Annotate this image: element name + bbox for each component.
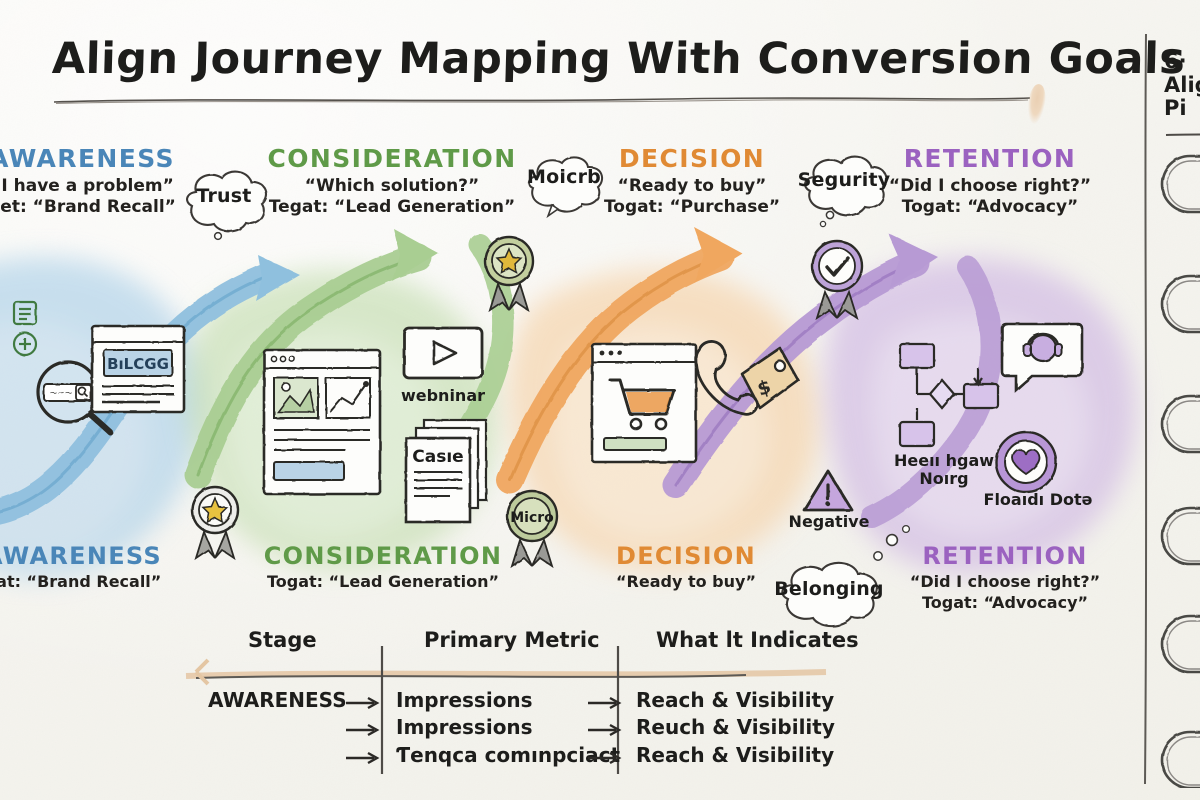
stage-footer-consideration: CONSIDERATION Togat: “Lead Generation” xyxy=(238,542,528,591)
warning-negative-icon xyxy=(800,466,856,518)
thought-cloud-trust-label: Trust xyxy=(172,166,276,226)
table-row: AWARENESS xyxy=(208,688,347,712)
title-underline xyxy=(52,95,1032,105)
row-arrow-2b xyxy=(588,723,624,737)
micro-rosette-label: Micro xyxy=(510,510,554,526)
stage-footer-decision-name: DECISION xyxy=(566,542,806,570)
panel-pill-1-label: D xyxy=(1158,272,1200,336)
thought-cloud-moicrb-label: Moicrb xyxy=(518,148,610,206)
table-cell-metric: Impressions xyxy=(396,715,533,739)
flow-diagram-caption-line1: Heeıı hgaw xyxy=(894,451,994,470)
panel-divider xyxy=(1142,28,1150,788)
table-cell-indicates: Reuch & Visibility xyxy=(636,715,835,739)
comparison-page-icon xyxy=(258,344,386,504)
check-rosette xyxy=(806,236,868,322)
panel-title-line2: Alig xyxy=(1164,73,1200,97)
table-cell-metric: Ƭenqca comınpciact xyxy=(396,743,620,767)
stage-footer-decision: DECISION “Ready to buy” xyxy=(566,542,806,591)
panel-pill-3[interactable]: Id Fr xyxy=(1158,504,1200,568)
ink-blot xyxy=(1025,83,1047,125)
flow-diagram-caption: Heeıı hgaw Noırg xyxy=(884,452,1004,489)
panel-pill-4[interactable]: Va xyxy=(1158,612,1200,676)
webinar-caption: webninar xyxy=(398,386,488,405)
support-chat-icon xyxy=(1000,316,1088,398)
thought-cloud-segurity: Segurity xyxy=(792,152,896,222)
page-title: Align Journey Mapping With Conversion Go… xyxy=(51,34,1052,84)
table-cell-indicates: Reach & Visibility xyxy=(636,743,834,767)
thought-cloud-trust: Trust xyxy=(172,166,276,240)
panel-pill-1[interactable]: D xyxy=(1158,272,1200,336)
panel-pill-2-label: Tou xyxy=(1158,392,1200,456)
stage-footer-retention-sub2: Togat: “Advocacy” xyxy=(860,593,1150,612)
row-arrow-1b xyxy=(588,696,624,710)
negative-caption: Negative xyxy=(786,512,872,531)
heart-badge-caption: Floaıdı Dotə xyxy=(978,490,1098,509)
table-cell-indicates: Reach & Visibility xyxy=(636,688,834,712)
summary-table: Stage Primary Metric What lt Indicates A… xyxy=(196,628,856,773)
row-arrow-2a xyxy=(346,723,382,737)
panel-pill-0-label: A xyxy=(1158,152,1200,216)
table-cell-metric: Impressions xyxy=(396,688,533,712)
row-arrow-3b xyxy=(588,751,624,765)
side-panel: 6· Alig Pi A D xyxy=(1140,28,1200,788)
paper-canvas: Align Journey Mapping With Conversion Go… xyxy=(0,0,1200,800)
table-cell-stage: AWARENESS xyxy=(208,688,347,712)
flow-diagram-caption-line2: Noırg xyxy=(919,469,968,488)
panel-pill-2[interactable]: Tou xyxy=(1158,392,1200,456)
stage-header-consideration: CONSIDERATION “Which solution?” Tegat: “… xyxy=(242,146,542,217)
webinar-video-icon xyxy=(398,322,488,384)
panel-title-line3: Pi xyxy=(1164,96,1187,120)
row-arrow-3a xyxy=(346,751,382,765)
row-arrow-1a xyxy=(346,696,382,710)
stage-footer-awareness-name: AWARENESS xyxy=(0,542,218,570)
page-title-block: Align Journey Mapping With Conversion Go… xyxy=(52,34,1052,84)
price-tag-call-icon: $ xyxy=(690,330,806,440)
case-study-documents-icon: Casıe xyxy=(398,414,502,528)
stage-footer-decision-sub: “Ready to buy” xyxy=(566,572,806,591)
thought-cloud-moicrb: Moicrb xyxy=(518,152,610,218)
panel-pill-5-label: It xyxy=(1158,728,1200,788)
stage-footer-retention: RETENTION “Did I choose right?” Togat: “… xyxy=(860,542,1150,612)
stage-footer-awareness: AWARENESS gat: “Brand Recall” xyxy=(0,542,218,591)
panel-title: 6· Alig Pi xyxy=(1164,50,1200,121)
stage-footer-consideration-name: CONSIDERATION xyxy=(238,542,528,570)
svg-text:~~~: ~~~ xyxy=(50,389,73,399)
awareness-small-icons xyxy=(0,296,52,368)
blog-browser-window-icon: BıLCGG xyxy=(84,320,192,424)
star-rosette-green xyxy=(480,232,538,314)
blog-window-label: BıLCGG xyxy=(107,355,169,373)
panel-pill-5[interactable]: It xyxy=(1158,728,1200,788)
stage-footer-retention-name: RETENTION xyxy=(860,542,1150,570)
thought-cloud-segurity-label: Segurity xyxy=(792,149,896,210)
stage-header-consideration-target: Tegat: “Lead Generation” xyxy=(242,197,542,217)
cart-checkout-window-icon xyxy=(586,338,702,470)
stage-footer-retention-sub: “Did I choose right?” xyxy=(860,572,1150,591)
panel-pill-3-label: Id Fr xyxy=(1158,504,1200,568)
stage-header-consideration-name: CONSIDERATION xyxy=(242,146,542,172)
panel-title-underline xyxy=(1164,132,1200,138)
case-study-label: Casıe xyxy=(412,447,463,467)
stage-footer-consideration-sub: Togat: “Lead Generation” xyxy=(238,572,528,591)
panel-pill-0[interactable]: A xyxy=(1158,152,1200,216)
panel-pill-4-label: Va xyxy=(1158,612,1200,676)
panel-title-line1: 6· xyxy=(1164,49,1187,73)
stage-footer-awareness-sub: gat: “Brand Recall” xyxy=(0,572,218,591)
heart-rosette xyxy=(988,424,1064,500)
stage-header-consideration-quote: “Which solution?” xyxy=(242,176,542,196)
